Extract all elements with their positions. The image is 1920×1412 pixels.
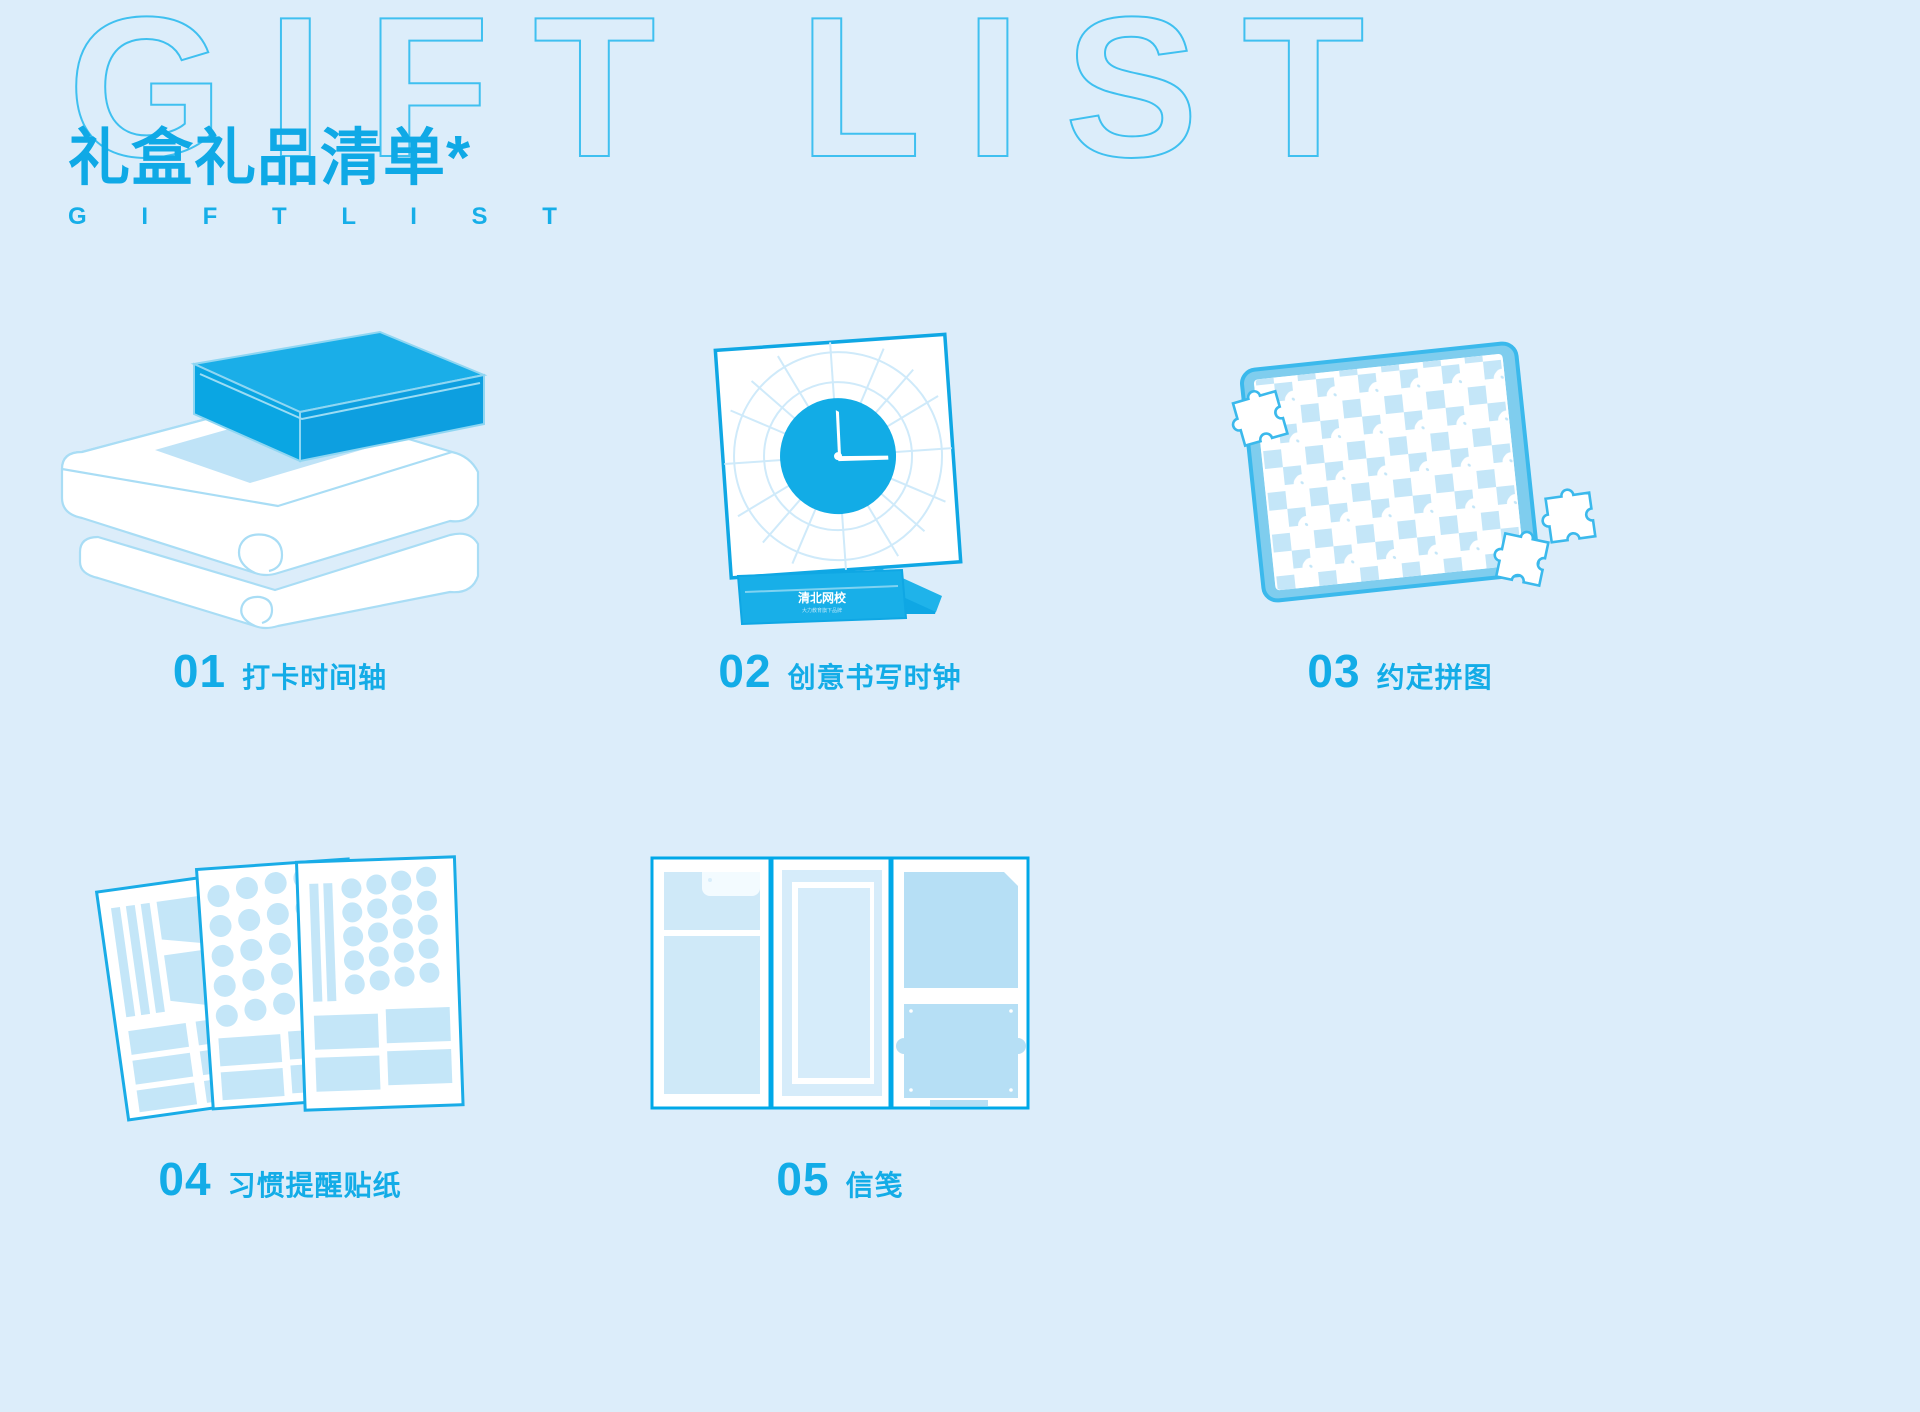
item-number: 03 bbox=[1307, 644, 1360, 698]
gift-item-04[interactable]: 04 习惯提醒贴纸 bbox=[0, 838, 560, 1206]
item-name: 创意书写时钟 bbox=[788, 656, 962, 696]
item-number: 01 bbox=[173, 644, 226, 698]
scroll-timeline-illustration bbox=[20, 330, 540, 630]
gift-item-03[interactable]: 03 约定拼图 bbox=[1120, 330, 1680, 698]
item-label: 04 习惯提醒贴纸 bbox=[158, 1152, 401, 1206]
item-label: 02 创意书写时钟 bbox=[718, 644, 961, 698]
gift-item-02[interactable]: 清北网校 大力教育旗下品牌 02 创意书写时钟 bbox=[560, 330, 1120, 698]
letter-paper-illustration bbox=[580, 838, 1100, 1138]
page-subtitle: G I F T L I S T bbox=[68, 203, 581, 231]
item-name: 约定拼图 bbox=[1377, 656, 1493, 696]
gift-row-1: 01 打卡时间轴 bbox=[0, 330, 1920, 698]
item-number: 04 bbox=[158, 1152, 211, 1206]
item-name: 习惯提醒贴纸 bbox=[228, 1164, 402, 1204]
title-block: 礼盒礼品清单* G I F T L I S T bbox=[68, 126, 581, 231]
brand-tagline: 大力教育旗下品牌 bbox=[802, 607, 842, 614]
desk-clock-icon: 清北网校 大力教育旗下品牌 bbox=[690, 330, 990, 630]
gift-row-2: 04 习惯提醒贴纸 bbox=[0, 838, 1920, 1206]
item-name: 信笺 bbox=[846, 1164, 904, 1204]
jigsaw-puzzle-illustration bbox=[1140, 330, 1660, 630]
item-label: 03 约定拼图 bbox=[1307, 644, 1492, 698]
item-label: 01 打卡时间轴 bbox=[173, 644, 387, 698]
page-title: 礼盒礼品清单* bbox=[68, 126, 581, 191]
letter-paper-icon bbox=[640, 838, 1040, 1138]
gift-list-grid: 01 打卡时间轴 bbox=[0, 330, 1920, 1206]
sticker-sheets-illustration bbox=[20, 838, 540, 1138]
jigsaw-puzzle-icon bbox=[1200, 330, 1600, 630]
page-header: GIFT LIST 礼盒礼品清单* G I F T L I S T bbox=[0, 0, 1920, 290]
gift-item-05[interactable]: 05 信笺 bbox=[560, 838, 1120, 1206]
item-name: 打卡时间轴 bbox=[242, 656, 387, 696]
gift-item-01[interactable]: 01 打卡时间轴 bbox=[0, 330, 560, 698]
sticker-sheets-icon bbox=[65, 838, 495, 1138]
item-number: 05 bbox=[776, 1152, 829, 1206]
item-number: 02 bbox=[718, 644, 771, 698]
desk-clock-illustration: 清北网校 大力教育旗下品牌 bbox=[580, 330, 1100, 630]
scroll-timeline-icon bbox=[50, 330, 510, 630]
brand-name: 清北网校 bbox=[798, 590, 847, 605]
item-label: 05 信笺 bbox=[776, 1152, 903, 1206]
grid-spacer bbox=[1120, 838, 1680, 1206]
